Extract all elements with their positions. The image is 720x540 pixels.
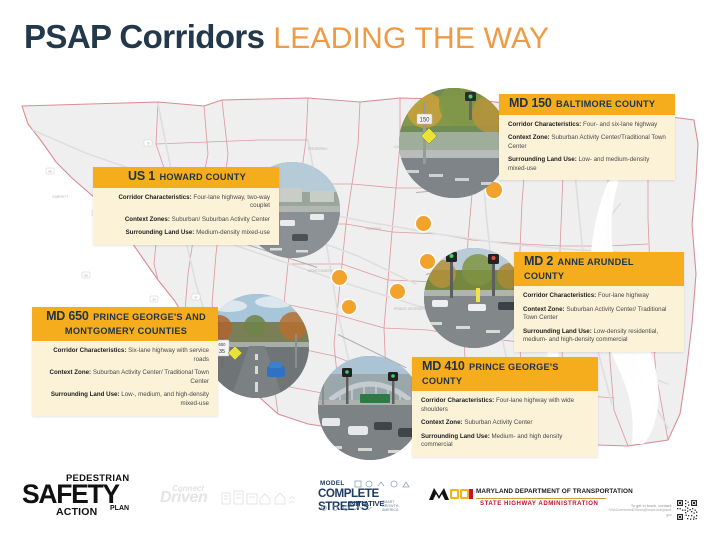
row-label: Context Zone: [508,134,550,141]
driven-text: Driven [160,489,207,507]
callout-route-md-150: MD 150 [509,96,552,110]
svg-text:35: 35 [219,349,225,355]
svg-text:68: 68 [48,170,52,174]
mdot-divider [476,498,606,499]
callout-header-md-650: MD 650 PRINCE GEORGE'S AND MONTGOMERY CO… [32,307,218,341]
row-value: Medium-density mixed-use [196,229,270,236]
callout-row-landuse: Surrounding Land Use: Medium-density mix… [102,229,270,238]
corridor-marker-md650-b[interactable] [332,270,347,285]
connected-driven-icons [220,488,298,506]
contact-block: To get in touch, contact: SHAConnectedDr… [608,503,672,518]
svg-text:FREDERICK: FREDERICK [308,147,328,151]
svg-text:650: 650 [219,342,227,347]
svg-text:HOWARD: HOWARD [366,227,382,231]
psap-logo: PEDESTRIAN SAFETY ACTION PLAN [22,472,140,520]
mcs-bottom-icons [320,504,376,511]
callout-body-md-150: Corridor Characteristics: Four- and six-… [499,115,675,181]
mcs-tagline: SMART GROWTH AMERICA [382,500,410,512]
callout-body-md-2: Corridor Characteristics: Four-lane high… [514,286,684,352]
mdot-title-text: MARYLAND DEPARTMENT OF TRANSPORTATION [476,488,633,495]
callout-md-150[interactable]: MD 150 BALTIMORE COUNTY Corridor Charact… [499,94,675,180]
row-label: Corridor Characteristics: [118,194,191,201]
row-label: Context Zone: [50,369,92,376]
callout-row-corridor: Corridor Characteristics: Four-lane high… [102,194,270,211]
callout-md-650[interactable]: MD 650 PRINCE GEORGE'S AND MONTGOMERY CO… [32,307,218,416]
callout-row-landuse: Surrounding Land Use: Low- and medium-de… [508,156,666,173]
callout-row-corridor: Corridor Characteristics: Four-lane high… [523,292,675,301]
callout-body-us-1: Corridor Characteristics: Four-lane high… [93,188,279,245]
row-label: Corridor Characteristics: [508,121,581,128]
row-label: Context Zones: [125,216,170,223]
svg-text:50: 50 [84,274,88,278]
corridor-photo-md410 [318,356,422,460]
corridor-photo-md2 [424,248,524,348]
callout-route-us-1: US 1 [128,169,155,183]
corridor-marker-md2[interactable] [420,254,435,269]
row-label: Corridor Characteristics: [523,292,596,299]
callout-row-corridor: Corridor Characteristics: Six-lane highw… [41,347,209,364]
qr-code-icon[interactable] [676,499,698,521]
svg-text:PRINCE GEORGE'S: PRINCE GEORGE'S [394,307,426,311]
svg-text:97: 97 [194,296,198,300]
mdot-division-text: STATE HIGHWAY ADMINISTRATION [480,500,598,507]
row-label: Surrounding Land Use: [51,391,120,398]
row-value: Four- and six-lane highway [583,121,657,128]
callout-header-md-2: MD 2 ANNE ARUNDEL COUNTY [514,252,684,286]
title-main: PSAP Corridors [24,18,264,56]
svg-text:29: 29 [152,298,156,302]
corridor-marker-us1[interactable] [416,216,431,231]
callout-row-landuse: Surrounding Land Use: Low-density reside… [523,328,675,345]
callout-row-context: Context Zones: Suburban/ Suburban Activi… [102,216,270,225]
row-label: Context Zone: [523,306,565,313]
row-value: Suburban Activity Center [464,419,532,426]
callout-row-context: Context Zone: Suburban Activity Center/ … [523,306,675,323]
row-label: Corridor Characteristics: [53,347,126,354]
corridor-photo-md150: 150 [399,88,509,198]
callout-route-md-410: MD 410 [422,359,465,373]
mcs-top-icons [354,480,410,488]
callout-route-md-650: MD 650 [46,309,89,323]
row-label: Surrounding Land Use: [508,156,577,163]
mdot-mark-icon [428,487,474,501]
row-value: Suburban Activity Center/ Traditional To… [93,369,209,385]
svg-text:MONTGOMERY: MONTGOMERY [308,269,334,273]
corridor-marker-md410[interactable] [342,300,356,314]
callout-header-md-410: MD 410 PRINCE GEORGE'S COUNTY [412,357,598,391]
callout-row-corridor: Corridor Characteristics: Four- and six-… [508,121,666,130]
callout-header-us-1: US 1 HOWARD COUNTY [93,167,279,188]
callout-body-md-410: Corridor Characteristics: Four-lane high… [412,391,598,457]
corridor-marker-md650-a[interactable] [390,284,405,299]
svg-text:GARRETT: GARRETT [52,195,68,199]
callout-row-landuse: Surrounding Land Use: Low-, medium, and … [41,391,209,408]
psap-action-text: ACTION [56,506,97,518]
callout-route-md-2: MD 2 [524,254,553,268]
mcs-model-text: MODEL [320,480,345,487]
contact-email[interactable]: SHAConnectedDriven@mdot.maryland.gov [608,508,672,518]
row-value: Low-, medium, and high-density mixed-use [121,391,209,407]
svg-text:70: 70 [146,142,150,146]
complete-streets-logo: MODEL COMPLETE STREETS INITIATIVE SMART … [318,480,410,514]
psap-safety-text: SAFETY [22,481,119,508]
callout-row-landuse: Surrounding Land Use: Medium- and high d… [421,433,589,450]
callout-body-md-650: Corridor Characteristics: Six-lane highw… [32,341,218,416]
row-value: Suburban/ Suburban Activity Center [172,216,270,223]
row-label: Context Zone: [421,419,463,426]
row-value: Four-lane highway, two-way couplet [193,194,270,210]
svg-text:150: 150 [419,118,430,124]
callout-row-context: Context Zone: Suburban Activity Center/T… [508,134,666,151]
title-subtitle: LEADING THE WAY [273,22,549,56]
row-value: Six-lane highway with service roads [128,347,209,363]
row-label: Surrounding Land Use: [421,433,490,440]
callout-row-context: Context Zone: Suburban Activity Center [421,419,589,428]
mdot-logo: MARYLAND DEPARTMENT OF TRANSPORTATION ST… [428,487,608,511]
callout-county-md-150: BALTIMORE COUNTY [556,99,655,109]
page-title: PSAP CorridorsLEADING THE WAY [24,18,549,56]
psap-plan-text: PLAN [110,505,129,512]
row-label: Corridor Characteristics: [421,397,494,404]
callout-header-md-150: MD 150 BALTIMORE COUNTY [499,94,675,115]
callout-county-us-1: HOWARD COUNTY [160,172,246,182]
callout-row-context: Context Zone: Suburban Activity Center/ … [41,369,209,386]
connected-driven-logo: Connect Driven [160,484,300,512]
infographic-page: PSAP CorridorsLEADING THE WAY [0,0,720,540]
row-label: Surrounding Land Use: [126,229,195,236]
callout-md-2[interactable]: MD 2 ANNE ARUNDEL COUNTY Corridor Charac… [514,252,684,352]
row-value: Four-lane highway [598,292,649,299]
row-label: Surrounding Land Use: [523,328,592,335]
callout-md-410[interactable]: MD 410 PRINCE GEORGE'S COUNTY Corridor C… [412,357,598,457]
corridor-photo-md650: 650 35 [205,294,309,398]
callout-row-corridor: Corridor Characteristics: Four-lane high… [421,397,589,414]
callout-us-1[interactable]: US 1 HOWARD COUNTY Corridor Characterist… [93,167,279,245]
